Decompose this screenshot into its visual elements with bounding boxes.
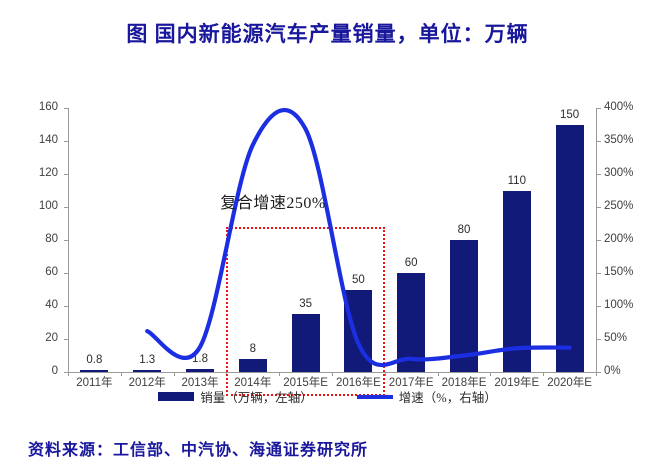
legend-item[interactable]: 销量（万辆，左轴） (158, 387, 313, 406)
annotation-label: 复合增速250% (220, 189, 325, 213)
legend-line-swatch-icon (357, 395, 393, 399)
chart-legend: 销量（万辆，左轴）增速（%，右轴） (0, 387, 655, 406)
source-footer: 资料来源：工信部、中汽协、海通证券研究所 (28, 436, 368, 460)
legend-bar-swatch-icon (158, 392, 194, 401)
chart-page: 图 国内新能源汽车产量销量，单位：万辆 02040608010012014016… (0, 0, 655, 475)
legend-item-label: 增速（%，右轴） (399, 387, 497, 406)
chart-area: 020406080100120140160 0%50%100%150%200%2… (0, 95, 655, 395)
legend-item[interactable]: 增速（%，右轴） (357, 387, 497, 406)
legend-item-label: 销量（万辆，左轴） (200, 387, 313, 406)
page-title: 图 国内新能源汽车产量销量，单位：万辆 (0, 18, 655, 48)
growth-line-series (0, 95, 655, 395)
